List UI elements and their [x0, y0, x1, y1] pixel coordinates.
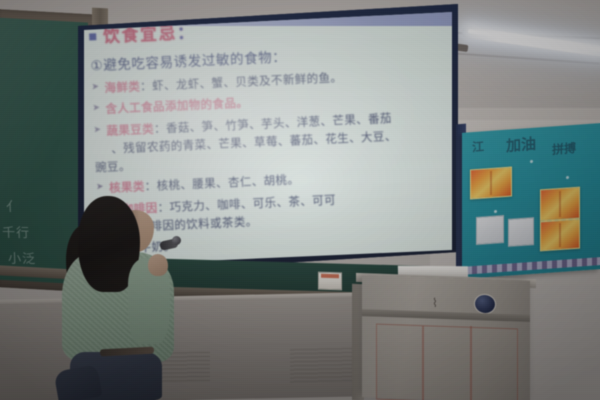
microphone-head-icon [172, 236, 181, 245]
bulletin-scribble: 拼搏 [552, 139, 576, 158]
presenter [52, 196, 178, 400]
chalk-mark: 千行 [2, 222, 31, 242]
slide-title-colon: ： [177, 23, 196, 43]
list-item-category: 蔬果豆类 [106, 121, 154, 137]
arrow-bullet-icon: ➤ [91, 80, 100, 95]
square-bullet-icon [89, 33, 96, 40]
hand [148, 254, 168, 276]
bulletin-poster [540, 187, 580, 222]
list-item-text: 核桃、腰果、杏仁、胡桃。 [156, 172, 299, 192]
bulletin-scribble: 江 [472, 137, 484, 155]
podium-panel-divider [422, 326, 424, 400]
bulletin-poster [470, 167, 512, 200]
podium-front-panel [376, 324, 518, 400]
chalk-mark: 亻 [6, 196, 21, 215]
list-item-category: 含人工食品添加物的食品。 [105, 95, 248, 115]
list-item-text: 虾、龙虾、蟹、贝类及不新鲜的鱼。 [152, 70, 343, 93]
list-item-category: 核果类 [109, 179, 145, 195]
arrow-bullet-icon: ➤ [93, 123, 102, 138]
chalk-box [318, 272, 342, 291]
list-item-sep: ： [144, 179, 157, 194]
list-item-category: 海鲜类 [104, 79, 140, 95]
chalk-mark: 小泛 [8, 248, 37, 268]
bulletin-poster [540, 219, 580, 252]
arrow-bullet-icon: ➤ [96, 180, 105, 195]
back-leg [54, 364, 103, 400]
podium-label-icon: ⌇ [432, 296, 446, 310]
classroom-photo: 亻 千行 小泛 饮食宜忌： ①避免吃容易诱发过敏的食物： ➤ 海鲜类：虾、龙虾、… [0, 0, 600, 400]
bulletin-white-card [508, 217, 534, 247]
bulletin-white-card [476, 215, 504, 245]
podium-panel-divider [470, 326, 472, 400]
list-item-sep: ： [140, 78, 153, 93]
arrow-bullet-icon: ➤ [92, 101, 101, 116]
bulletin-scribble: 加油 [506, 133, 536, 157]
control-knob-icon[interactable] [474, 294, 496, 315]
